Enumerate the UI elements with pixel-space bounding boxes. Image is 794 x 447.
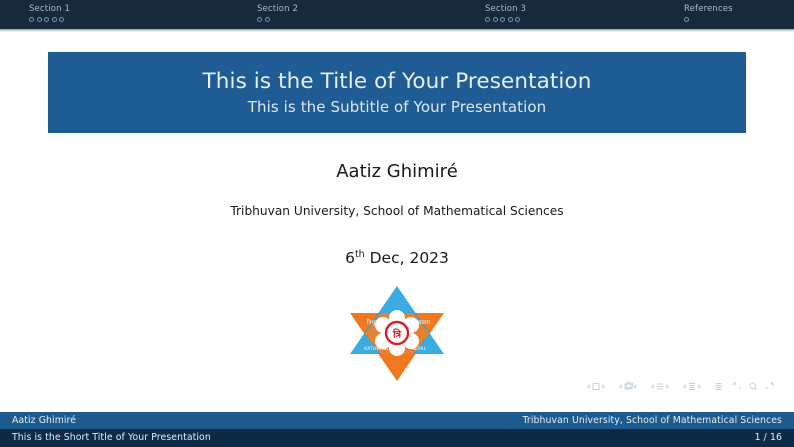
footer-short-title: This is the Short Title of Your Presenta… bbox=[12, 432, 211, 444]
slide-marker-dot[interactable] bbox=[493, 17, 498, 22]
footer-top-bar: Aatiz Ghimiré Tribhuvan University, Scho… bbox=[0, 412, 794, 429]
date-ordinal-suffix: th bbox=[355, 249, 365, 260]
footer-bottom-bar: This is the Short Title of Your Presenta… bbox=[0, 429, 794, 447]
section-navigation-bar: Section 1 Section 2 Section 3 bbox=[0, 0, 794, 29]
beamer-navigation-symbols[interactable] bbox=[586, 382, 776, 391]
slide-marker-dot[interactable] bbox=[684, 17, 689, 22]
slide-marker-dot[interactable] bbox=[515, 17, 520, 22]
slide-marker-dot[interactable] bbox=[508, 17, 513, 22]
beamer-nav-subsection-icon bbox=[650, 382, 674, 391]
slide-marker-dot[interactable] bbox=[485, 17, 490, 22]
beamer-nav-search-icon bbox=[749, 382, 758, 391]
presentation-title: This is the Title of Your Presentation bbox=[203, 68, 592, 95]
presentation-slide: Section 1 Section 2 Section 3 bbox=[0, 0, 794, 447]
slide-marker-dot[interactable] bbox=[500, 17, 505, 22]
nav-section-1[interactable]: Section 1 bbox=[0, 0, 228, 29]
slide-marker-dot[interactable] bbox=[265, 17, 270, 22]
nav-section-label: References bbox=[684, 4, 779, 15]
date-day: 6 bbox=[345, 249, 355, 267]
beamer-nav-forward-icon bbox=[766, 382, 776, 391]
beamer-nav-slide-icon bbox=[586, 382, 610, 391]
footer-author: Aatiz Ghimiré bbox=[12, 415, 76, 427]
beamer-nav-frame-icon bbox=[618, 382, 642, 391]
beamer-nav-presentation-icon bbox=[714, 382, 723, 391]
nav-section-label: Section 2 bbox=[257, 4, 456, 15]
nav-section-2[interactable]: Section 2 bbox=[228, 0, 456, 29]
slide-marker-dot[interactable] bbox=[52, 17, 57, 22]
nav-slide-markers bbox=[684, 17, 779, 22]
presentation-date: 6th Dec, 2023 bbox=[0, 248, 794, 269]
nav-section-label: Section 1 bbox=[29, 4, 228, 15]
nav-slide-markers bbox=[29, 17, 228, 22]
beamer-nav-back-icon bbox=[731, 382, 741, 391]
slide-marker-dot[interactable] bbox=[29, 17, 34, 22]
slide-marker-dot[interactable] bbox=[59, 17, 64, 22]
footer-page-number: 1 / 16 bbox=[755, 432, 782, 444]
institution-name: Tribhuvan University, School of Mathemat… bbox=[0, 203, 794, 220]
university-logo: त्रिभुवन विश्वविद्यालय KATHMANDU NEPAL त… bbox=[341, 282, 453, 386]
nav-section-3[interactable]: Section 3 bbox=[456, 0, 684, 29]
header-shadow bbox=[0, 29, 794, 32]
presentation-subtitle: This is the Subtitle of Your Presentatio… bbox=[248, 97, 547, 118]
slide-marker-dot[interactable] bbox=[37, 17, 42, 22]
nav-section-references[interactable]: References bbox=[684, 0, 794, 29]
author-name: Aatiz Ghimiré bbox=[0, 160, 794, 184]
nav-section-label: Section 3 bbox=[485, 4, 684, 15]
date-rest: Dec, 2023 bbox=[365, 249, 449, 267]
slide-marker-dot[interactable] bbox=[257, 17, 262, 22]
svg-text:त्रि: त्रि bbox=[392, 328, 402, 341]
nav-slide-markers bbox=[485, 17, 684, 22]
footer-institution: Tribhuvan University, School of Mathemat… bbox=[523, 415, 782, 427]
title-block: This is the Title of Your Presentation T… bbox=[48, 52, 746, 133]
slide-marker-dot[interactable] bbox=[44, 17, 49, 22]
nav-slide-markers bbox=[257, 17, 456, 22]
beamer-nav-section-icon bbox=[682, 382, 706, 391]
